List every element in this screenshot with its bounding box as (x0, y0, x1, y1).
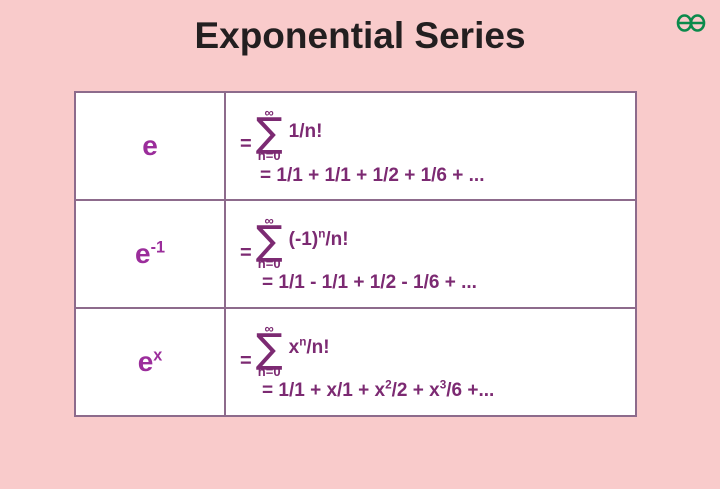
summation-line: = ∞ ∑ n=0 (-1)n/n! (240, 214, 635, 270)
summation-group: ∞ ∑ n=0 (256, 322, 283, 378)
series-symbol-e-inverse: e-1 (76, 240, 224, 268)
series-symbol-e-x: ex (76, 348, 224, 376)
summation-line: = ∞ ∑ n=0 1/n! (240, 105, 635, 163)
series-expression-e-x: = ∞ ∑ n=0 xn/n! = 1/1 + x/1 + x2/2 + (226, 316, 635, 408)
term-base: 1/n! (289, 121, 323, 142)
sigma-icon: ∑ (256, 117, 283, 150)
summation-group: ∞ ∑ n=0 (256, 106, 283, 162)
equals-sign: = (240, 350, 254, 373)
table-row: e-1 = ∞ ∑ n=0 (-1)n/n! (75, 200, 636, 308)
equals-sign: = (240, 133, 254, 156)
slide-canvas: Exponential Series e = ∞ ∑ (0, 0, 720, 489)
series-expansion: = 1/1 - 1/1 + 1/2 - 1/6 + ... (240, 272, 635, 294)
series-expression-e: = ∞ ∑ n=0 1/n! = 1/1 + 1/1 + 1/2 + 1/6 +… (226, 99, 635, 193)
series-expression-e-inverse: = ∞ ∑ n=0 (-1)n/n! = 1/1 - 1/1 + 1/2 - 1… (226, 208, 635, 300)
series-symbol-e: e (76, 132, 224, 160)
summation-group: ∞ ∑ n=0 (256, 214, 283, 270)
series-expression-cell: = ∞ ∑ n=0 (-1)n/n! = 1/1 - 1/1 + 1/2 - 1… (225, 200, 636, 308)
symbol-base: e (135, 238, 151, 269)
expansion-part-1: = 1/1 + x/1 + x (262, 380, 385, 401)
series-symbol-cell: e-1 (75, 200, 225, 308)
term-tail: /n! (325, 229, 348, 250)
summation-lower-limit: n=0 (258, 257, 281, 270)
series-expansion: = 1/1 + x/1 + x2/2 + x3/6 +... (240, 380, 635, 402)
sigma-icon: ∑ (256, 225, 283, 258)
summation-term: 1/n! (289, 121, 323, 143)
symbol-base: e (142, 130, 158, 161)
term-tail: /n! (306, 337, 329, 358)
series-symbol-cell: ex (75, 308, 225, 416)
summation-line: = ∞ ∑ n=0 xn/n! (240, 322, 635, 378)
symbol-superscript: -1 (151, 239, 165, 257)
table-row: ex = ∞ ∑ n=0 xn/n! (75, 308, 636, 416)
expansion-part-2: /2 + x (392, 380, 440, 401)
symbol-superscript: x (153, 347, 162, 365)
series-expansion: = 1/1 + 1/1 + 1/2 + 1/6 + ... (240, 165, 635, 187)
expansion-part-3: /6 +... (446, 380, 494, 401)
series-expression-cell: = ∞ ∑ n=0 xn/n! = 1/1 + x/1 + x2/2 + (225, 308, 636, 416)
series-symbol-cell: e (75, 92, 225, 200)
summation-term: xn/n! (289, 337, 330, 359)
table-row: e = ∞ ∑ n=0 1/n! (75, 92, 636, 200)
summation-term: (-1)n/n! (289, 229, 349, 251)
series-expression-cell: = ∞ ∑ n=0 1/n! = 1/1 + 1/1 + 1/2 + 1/6 +… (225, 92, 636, 200)
exponential-series-table: e = ∞ ∑ n=0 1/n! (74, 91, 637, 417)
summation-lower-limit: n=0 (258, 149, 281, 162)
term-base: (-1) (289, 229, 319, 250)
term-base: x (289, 337, 300, 358)
sigma-icon: ∑ (256, 333, 283, 366)
equals-sign: = (240, 242, 254, 265)
summation-lower-limit: n=0 (258, 365, 281, 378)
page-title: Exponential Series (0, 15, 720, 57)
symbol-base: e (138, 346, 154, 377)
